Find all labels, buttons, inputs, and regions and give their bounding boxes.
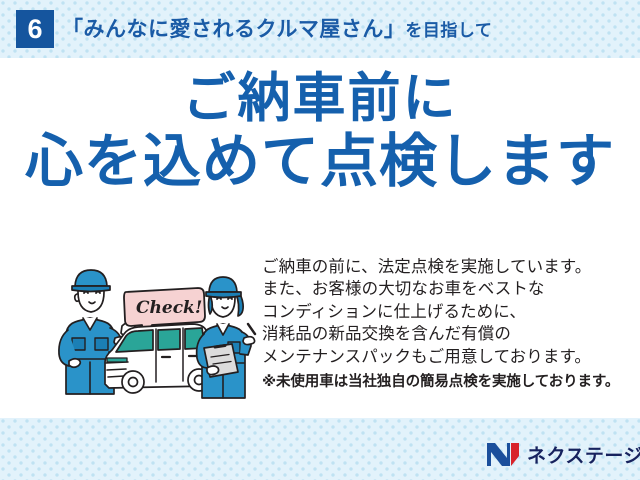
header: 6 「みんなに愛されるクルマ屋さん」を目指して xyxy=(0,0,640,58)
body-line: 消耗品の新品交換を含んだ有償の xyxy=(262,323,634,345)
body-copy: ご納車の前に、法定点検を実施しています。 また、お客様の大切なお車をベストな コ… xyxy=(262,256,634,392)
header-title-tail: を目指して xyxy=(405,21,492,40)
page-title-line-2: 心を込めて点検します xyxy=(0,132,640,191)
body-line: コンディションに仕上げるために、 xyxy=(262,301,634,323)
section-number-badge: 6 xyxy=(16,10,54,48)
header-title: 「みんなに愛されるクルマ屋さん」を目指して xyxy=(62,13,492,43)
nextage-n-logo-icon xyxy=(486,442,520,467)
brand-logo[interactable]: ネクステージ xyxy=(486,440,640,468)
body-line: メンテナンスパックもご用意しております。 xyxy=(262,346,634,368)
brand-wordmark: ネクステージ xyxy=(527,441,640,468)
check-bubble-text: Check! xyxy=(136,298,202,318)
page-title: ご納車前に 心を込めて点検します xyxy=(0,72,640,191)
body-line: また、お客様の大切なお車をベストな xyxy=(262,278,634,300)
page-title-line-1: ご納車前に xyxy=(0,72,640,126)
mechanics-illustration: Check! xyxy=(52,262,260,414)
mechanic-right-figure xyxy=(197,277,255,398)
header-title-quoted: 「みんなに愛されるクルマ屋さん」 xyxy=(62,18,405,41)
mechanics-illustration-graphic: Check! xyxy=(52,262,260,414)
body-note: ※未使用車は当社独自の簡易点検を実施しております。 xyxy=(262,372,634,392)
body-line: ご納車の前に、法定点検を実施しています。 xyxy=(262,256,634,278)
promo-slide: 6 「みんなに愛されるクルマ屋さん」を目指して ご納車前に 心を込めて点検します… xyxy=(0,0,640,480)
